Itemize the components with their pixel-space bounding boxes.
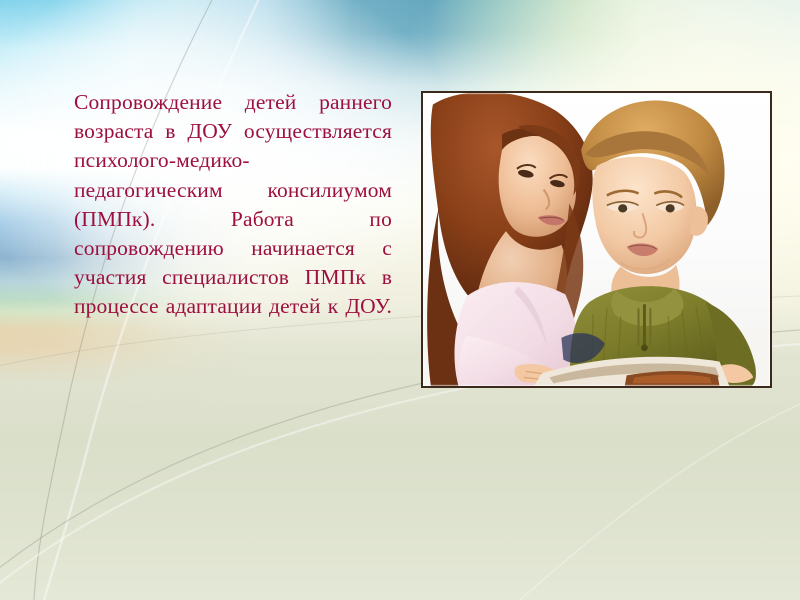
- slide-photo: [421, 91, 772, 388]
- woman-and-child-reading-photo: [423, 93, 770, 386]
- body-paragraph: Сопровождение детей раннего возраста в Д…: [74, 88, 392, 351]
- presentation-slide: Сопровождение детей раннего возраста в Д…: [0, 0, 800, 600]
- slide-body-text: Сопровождение детей раннего возраста в Д…: [74, 88, 392, 351]
